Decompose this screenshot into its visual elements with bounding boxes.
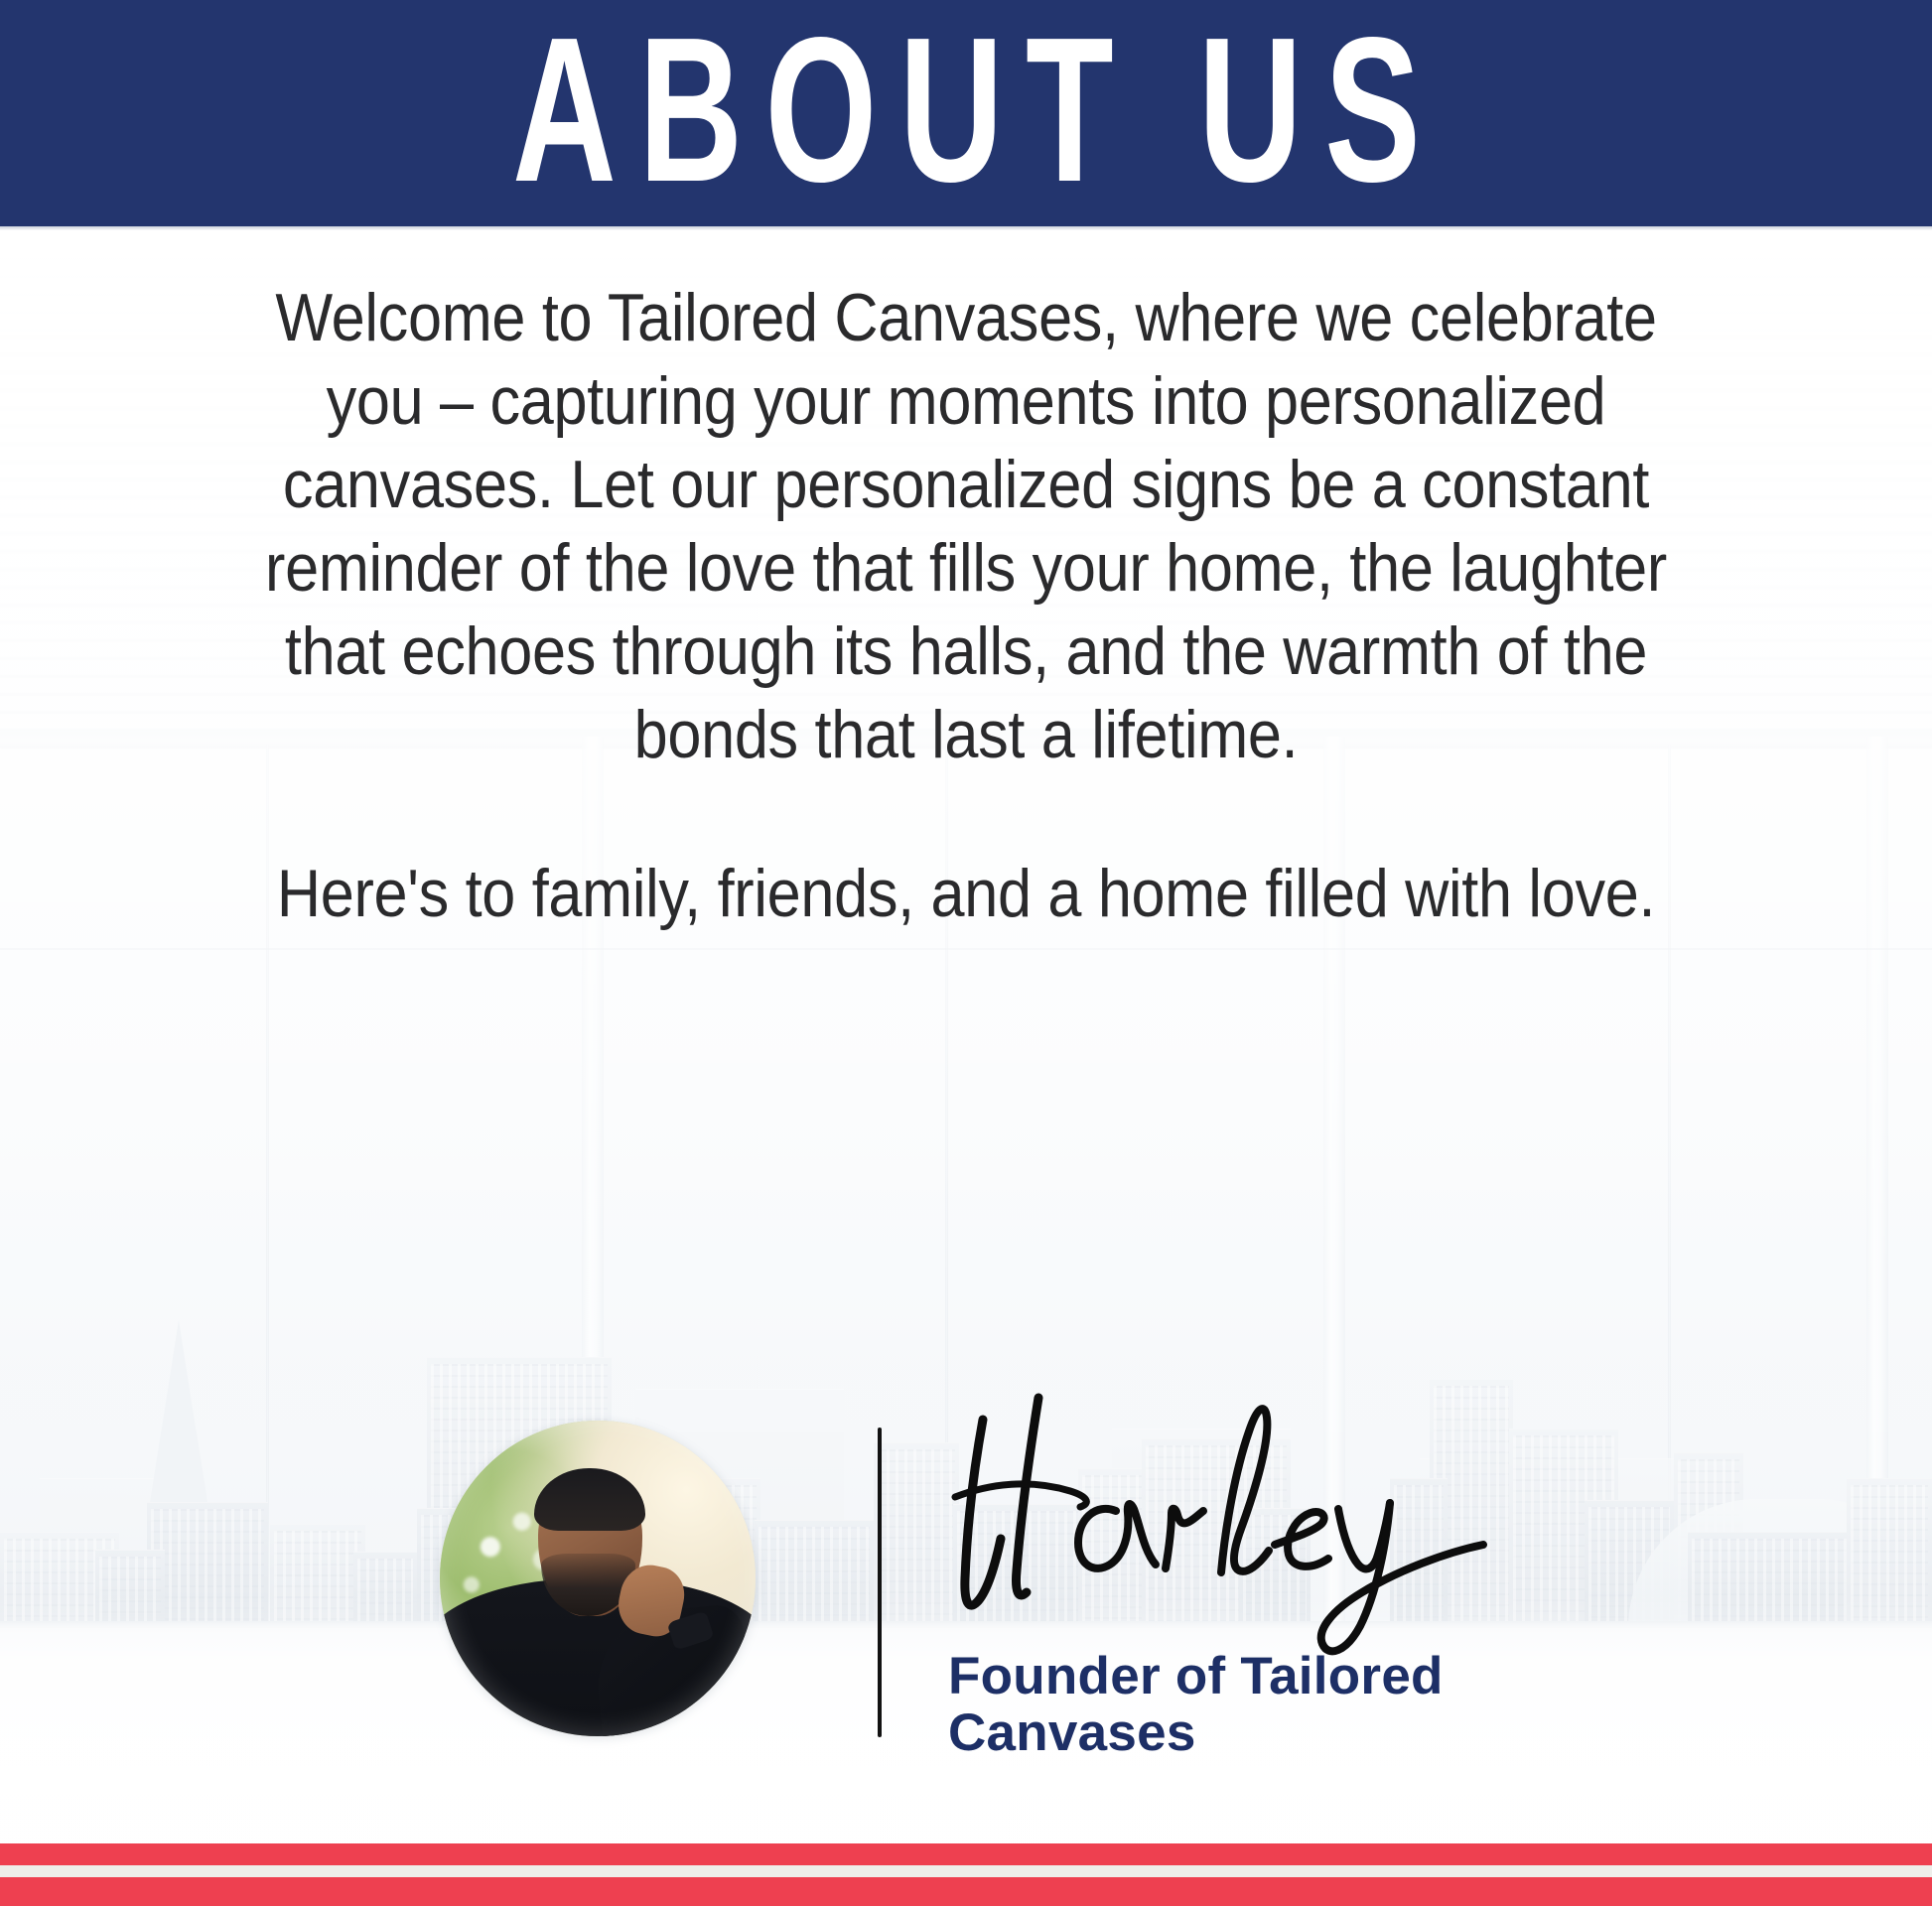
signature-harley <box>921 1380 1537 1648</box>
window-transom <box>0 948 1932 950</box>
page-title: ABOUT US <box>489 7 1443 213</box>
avatar <box>440 1421 756 1736</box>
founder-title: Founder of Tailored Canvases <box>948 1648 1584 1761</box>
footer-accent-bar-bottom <box>0 1877 1932 1906</box>
transamerica-base <box>147 1502 268 1628</box>
about-paragraph-2: Here's to family, friends, and a home fi… <box>257 852 1674 935</box>
about-copy: Welcome to Tailored Canvases, where we c… <box>179 276 1753 935</box>
signature-divider <box>878 1428 882 1737</box>
founder-title-line-2: Canvases <box>948 1704 1584 1761</box>
avatar-vignette <box>440 1421 756 1736</box>
footer-accent-gap <box>0 1865 1932 1877</box>
founder-title-line-1: Founder of Tailored <box>948 1648 1584 1704</box>
footer-accent-bar-top <box>0 1843 1932 1865</box>
paragraph-spacer <box>179 776 1753 852</box>
transamerica-pyramid-spire <box>149 1320 208 1509</box>
about-paragraph-1: Welcome to Tailored Canvases, where we c… <box>257 276 1674 776</box>
header-banner: ABOUT US <box>0 0 1932 226</box>
header-underline <box>0 226 1932 230</box>
about-us-graphic: ABOUT US Welcome to Tailored Canvases, w… <box>0 0 1932 1906</box>
